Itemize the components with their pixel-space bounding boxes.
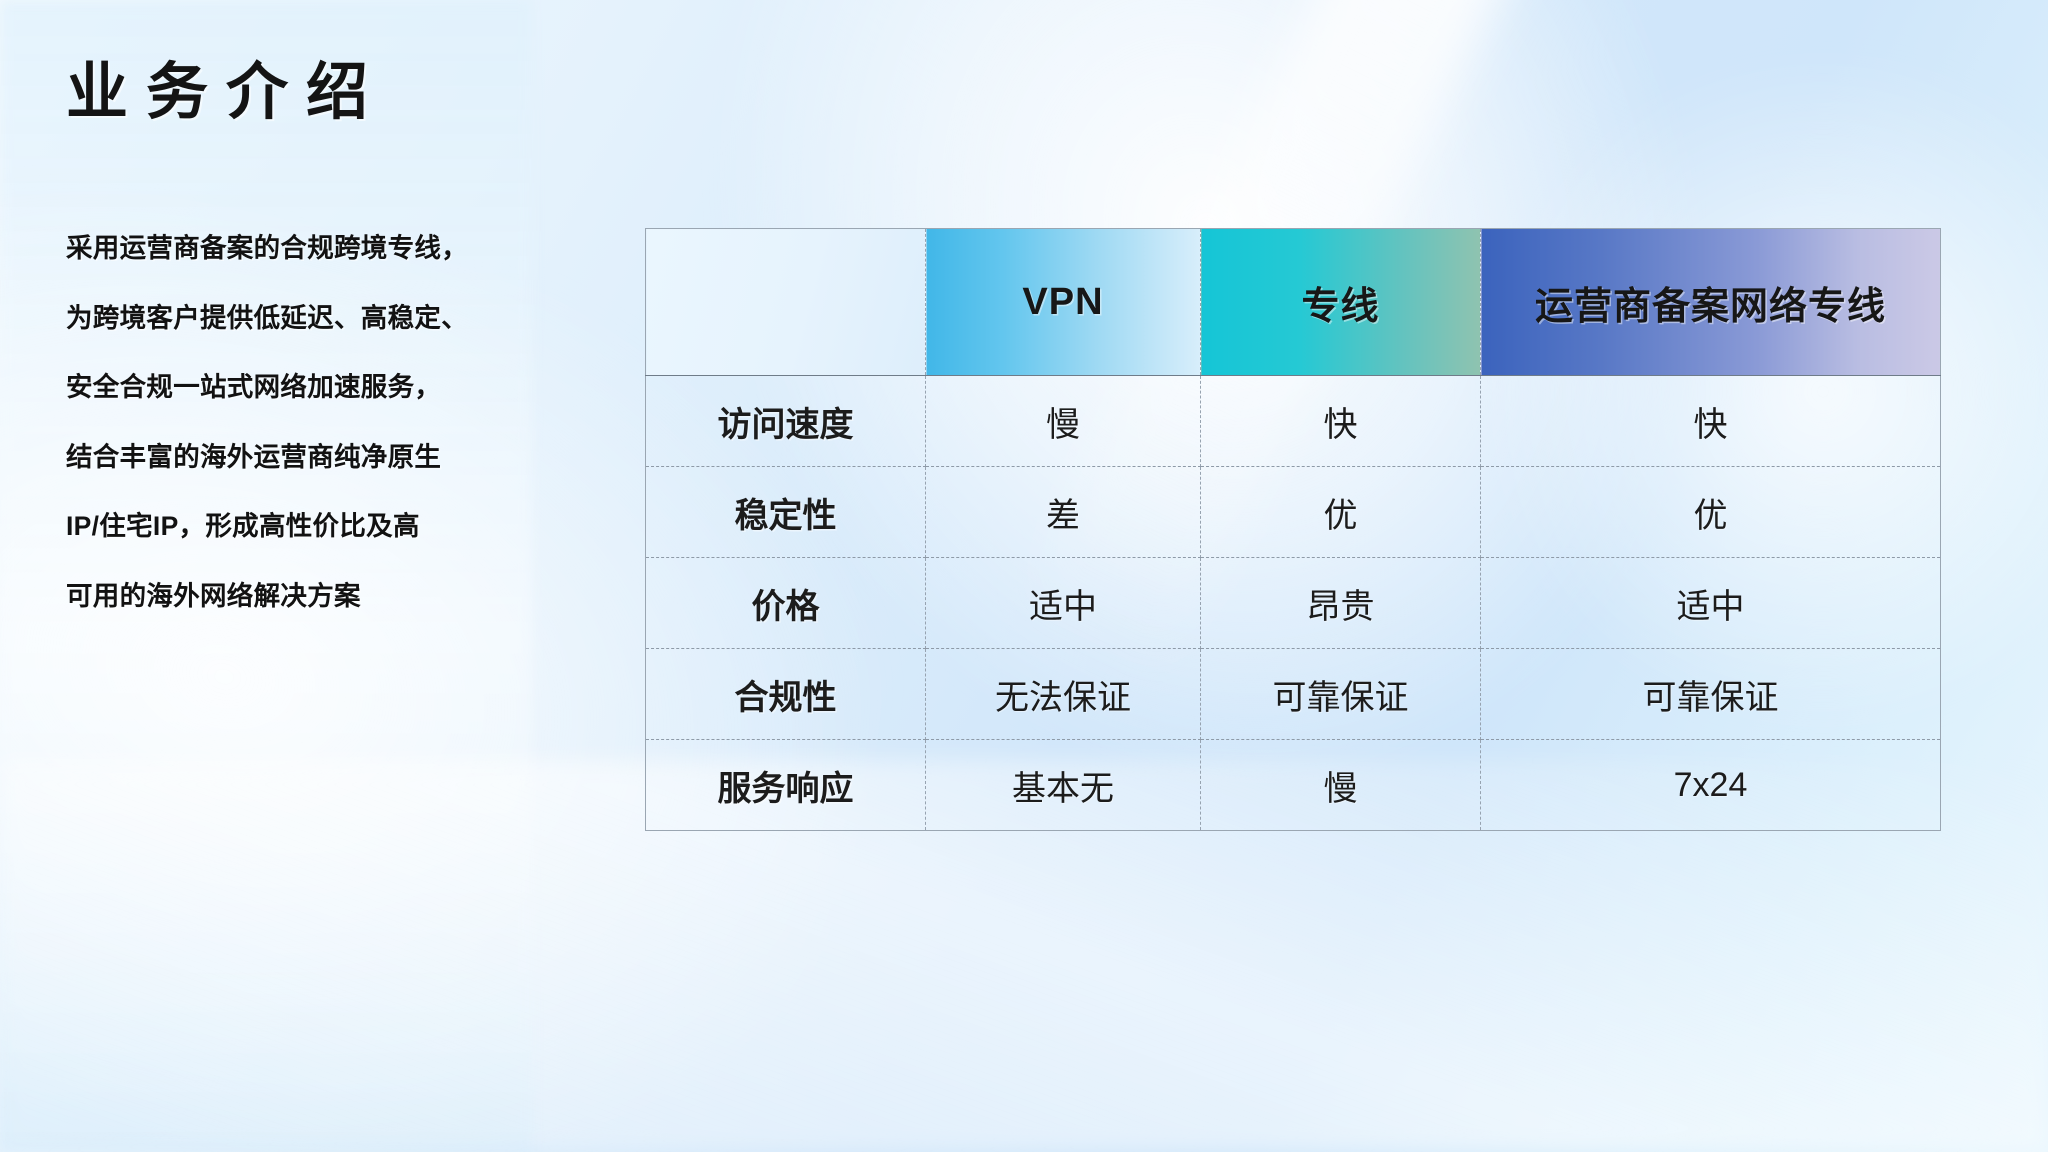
row-value: 差 <box>926 467 1201 558</box>
paragraph-line: 可用的海外网络解决方案 <box>66 583 486 610</box>
row-value: 无法保证 <box>926 649 1201 740</box>
table-row: 稳定性 差 优 优 <box>646 467 1941 558</box>
row-label: 合规性 <box>646 649 926 740</box>
paragraph-line: 为跨境客户提供低延迟、高稳定、 <box>66 305 486 332</box>
table-header-row: VPN 专线 运营商备案网络专线 <box>646 229 1941 376</box>
row-label: 价格 <box>646 558 926 649</box>
table-row: 合规性 无法保证 可靠保证 可靠保证 <box>646 649 1941 740</box>
row-value: 适中 <box>926 558 1201 649</box>
table-header-carrier-registered-line: 运营商备案网络专线 <box>1481 229 1941 376</box>
row-value: 基本无 <box>926 740 1201 831</box>
row-value: 慢 <box>1201 740 1481 831</box>
table-header-vpn: VPN <box>926 229 1201 376</box>
comparison-table: VPN 专线 运营商备案网络专线 访问速度 慢 快 快 稳定性 差 优 优 <box>645 228 1941 831</box>
table-row: 服务响应 基本无 慢 7x24 <box>646 740 1941 831</box>
row-value: 适中 <box>1481 558 1941 649</box>
paragraph-line: 安全合规一站式网络加速服务， <box>66 374 486 401</box>
table-header-blank <box>646 229 926 376</box>
comparison-table-container: VPN 专线 运营商备案网络专线 访问速度 慢 快 快 稳定性 差 优 优 <box>645 228 1940 831</box>
paragraph-line: 结合丰富的海外运营商纯净原生 <box>66 444 486 471</box>
row-value: 快 <box>1481 376 1941 467</box>
slide-canvas: 业务介绍 采用运营商备案的合规跨境专线， 为跨境客户提供低延迟、高稳定、 安全合… <box>0 0 2048 1152</box>
row-value: 快 <box>1201 376 1481 467</box>
row-value: 优 <box>1201 467 1481 558</box>
paragraph-line: 采用运营商备案的合规跨境专线， <box>66 235 486 262</box>
row-label: 访问速度 <box>646 376 926 467</box>
row-label: 稳定性 <box>646 467 926 558</box>
page-title: 业务介绍 <box>66 60 386 125</box>
paragraph-line: IP/住宅IP，形成高性价比及高 <box>66 513 486 540</box>
table-row: 价格 适中 昂贵 适中 <box>646 558 1941 649</box>
row-value: 可靠保证 <box>1481 649 1941 740</box>
description-paragraph: 采用运营商备案的合规跨境专线， 为跨境客户提供低延迟、高稳定、 安全合规一站式网… <box>66 235 486 609</box>
row-value: 可靠保证 <box>1201 649 1481 740</box>
row-label: 服务响应 <box>646 740 926 831</box>
row-value: 昂贵 <box>1201 558 1481 649</box>
row-value: 优 <box>1481 467 1941 558</box>
table-header-dedicated-line: 专线 <box>1201 229 1481 376</box>
row-value: 7x24 <box>1481 740 1941 831</box>
table-row: 访问速度 慢 快 快 <box>646 376 1941 467</box>
row-value: 慢 <box>926 376 1201 467</box>
